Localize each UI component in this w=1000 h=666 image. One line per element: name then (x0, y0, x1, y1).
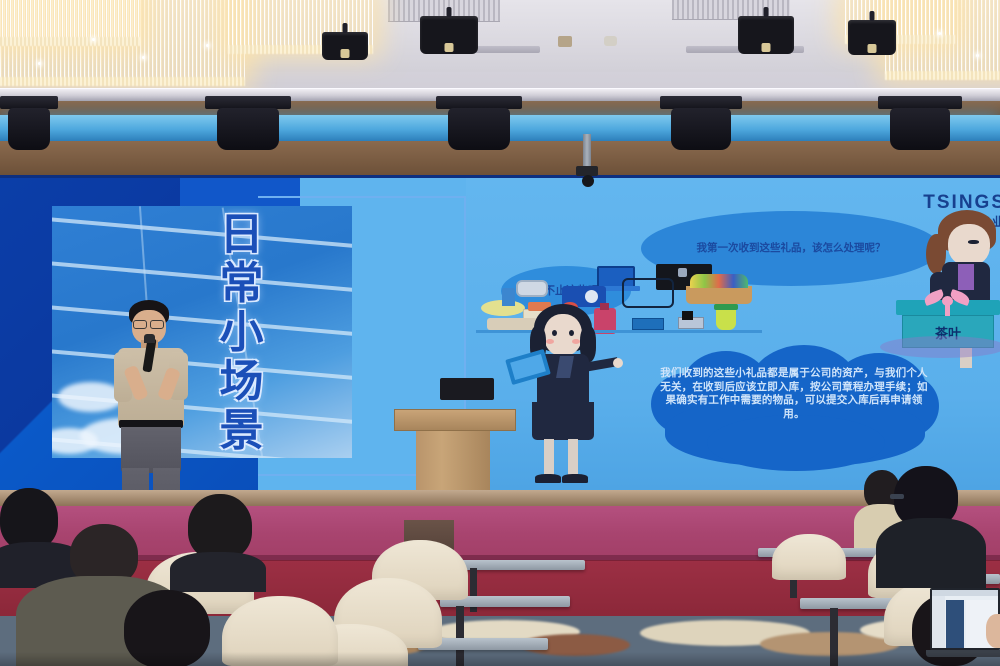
presenter-pants (121, 427, 181, 473)
conference-photo-scene: 日 常 小 场 景 TSINGS 青山实业 我第一次收到这些礼品，该怎么处理呢？… (0, 0, 1000, 666)
slide-vertical-title: 日 常 小 场 景 (208, 210, 276, 455)
moving-head-light (660, 96, 742, 158)
presenter-glasses (133, 320, 147, 329)
chandelier-sparkle (38, 62, 41, 65)
gift-item-briefcase-clasp (678, 268, 687, 277)
sky-cloud (52, 428, 98, 454)
light-head (217, 108, 279, 150)
audience-chair (772, 534, 846, 580)
answer-cloud-text: 我们收到的这些小礼品都是属于公司的资产，与我们个人无关，在收到后应该立即入库，按… (657, 367, 931, 421)
ceiling (0, 0, 1000, 175)
crystal-chandelier-left-wing (0, 0, 140, 42)
presenter-glasses (150, 320, 164, 329)
light-lens (868, 44, 877, 53)
par-can-light (420, 16, 478, 54)
toon-leg-right (568, 439, 578, 477)
moving-head-light (436, 96, 522, 158)
gift-item-cosmetic-case (632, 318, 664, 330)
laptop-ui-panel (946, 600, 964, 650)
microphone-head (144, 334, 155, 343)
toon-eye-right (569, 330, 574, 336)
toon2-top-purple (958, 264, 974, 290)
light-head (8, 108, 50, 150)
light-lens (445, 43, 454, 52)
chandelier-sparkle (976, 54, 979, 57)
toon-blush (572, 339, 580, 344)
vtitle-char-4: 场 (208, 357, 276, 406)
person-head (188, 494, 252, 560)
gift-item-camera-lens (585, 290, 598, 303)
person-shoulders (170, 552, 266, 592)
podium-monitor (440, 378, 494, 400)
slide-right-panel: TSINGS 青山实业 我第一次收到这些礼品，该怎么处理呢？ 可不止这些呢 (466, 178, 1000, 490)
chandelier-sparkle (206, 44, 209, 47)
toon-skirt (532, 402, 594, 440)
light-head (890, 108, 950, 150)
cartoon-woman-with-laptop (510, 304, 620, 484)
toon-blush (546, 339, 554, 344)
gift-item-drink-lid (714, 304, 738, 310)
gift-item-fruit-basket (686, 286, 752, 304)
toon-face (544, 314, 582, 356)
toon-shoe-left (535, 474, 561, 483)
vtitle-char-3: 小 (208, 308, 276, 357)
chandelier-sparkle (142, 56, 145, 59)
toon2-face (948, 224, 990, 266)
par-can-light (738, 16, 794, 54)
toon-hand-right (613, 358, 623, 368)
par-can-light (848, 20, 896, 55)
camera-pole (583, 134, 591, 168)
ceiling-speaker (558, 36, 572, 47)
moving-head-light (878, 96, 962, 158)
gift-item-speaker (682, 311, 693, 320)
chandelier-sparkle (92, 38, 95, 41)
foreground-shadow (0, 652, 1000, 666)
par-can-light (322, 32, 368, 60)
answer-cloud-bubble: 我们收到的这些小礼品都是属于公司的资产，与我们个人无关，在收到后应该立即入库，按… (651, 349, 937, 473)
light-head (448, 108, 510, 150)
light-lens (341, 49, 350, 58)
chandelier-sparkle (938, 32, 941, 35)
vtitle-char-5: 景 (208, 406, 276, 455)
podium-shelf (394, 409, 516, 431)
vtitle-char-2: 常 (208, 259, 276, 308)
gift-item-fruit (690, 274, 748, 288)
person-hand (986, 614, 1000, 648)
laptop-ui-sidebar (932, 596, 945, 650)
moving-head-light (0, 96, 58, 154)
camera-lens (582, 175, 594, 187)
light-head (671, 108, 730, 150)
moving-head-light (205, 96, 291, 158)
gift-item-bicycle (622, 278, 674, 308)
stage-edge-trim (0, 490, 1000, 506)
cloud-lobe (707, 415, 885, 471)
vtitle-char-1: 日 (208, 210, 276, 259)
question-bubble-text: 我第一次收到这些礼品，该怎么处理呢？ (697, 241, 886, 256)
toon-leg-left (544, 439, 554, 477)
ceiling-smoke-detector (604, 36, 617, 46)
ptz-camera-mount (574, 134, 600, 186)
toon-shoe-right (562, 474, 588, 483)
gift-item-watch (516, 280, 548, 297)
audience-person-with-laptop (884, 466, 994, 586)
light-lens (762, 43, 771, 52)
audience-person (170, 494, 266, 584)
person-shoulders (876, 518, 986, 588)
gift-ribbon-tail (945, 302, 950, 316)
toon-eye-left (552, 330, 557, 336)
person-glasses-arm (890, 494, 904, 499)
toon2-eye (968, 240, 979, 244)
